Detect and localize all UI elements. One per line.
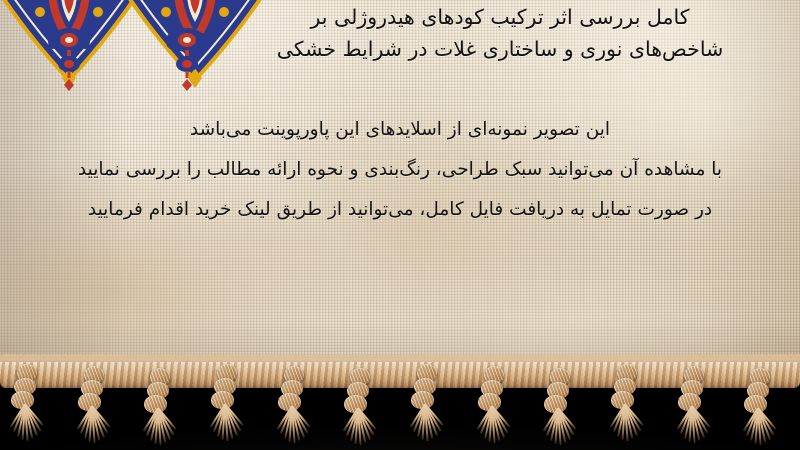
title-line-1: کامل بررسی اثر ترکیب کودهای هیدروژلی بر bbox=[212, 1, 788, 33]
fringe-knot bbox=[675, 364, 715, 450]
fringe-knot bbox=[608, 362, 648, 448]
fringe-tassel bbox=[10, 404, 44, 448]
slide-text-layer: کامل بررسی اثر ترکیب کودهای هیدروژلی بر … bbox=[0, 0, 800, 374]
fringe-tassel bbox=[143, 408, 177, 450]
fringe-knot bbox=[408, 362, 448, 448]
fringe-tassel bbox=[343, 408, 377, 450]
fringe-tassel bbox=[410, 404, 444, 448]
fringe-knot bbox=[341, 366, 381, 450]
fringe-tassel bbox=[610, 404, 644, 448]
body-line-2: با مشاهده آن می‌توانید سبک طراحی، رنگ‌بن… bbox=[0, 150, 800, 190]
fringe-tassel bbox=[677, 406, 711, 450]
fringe-tassel bbox=[743, 408, 777, 450]
title-line-2: شاخص‌های نوری و ساختاری غلات در شرایط خش… bbox=[212, 33, 788, 65]
fringe-tassel bbox=[277, 406, 311, 450]
fringe-knot bbox=[275, 364, 315, 450]
fringe-knot bbox=[141, 366, 181, 450]
slide-title: کامل بررسی اثر ترکیب کودهای هیدروژلی بر … bbox=[212, 1, 788, 65]
fringe-tassel bbox=[477, 406, 511, 450]
fringe-tassel bbox=[210, 404, 244, 448]
fringe-tassel bbox=[543, 408, 577, 450]
fringe-knot bbox=[208, 362, 248, 448]
body-line-3: در صورت تمایل به دریافت فایل کامل، می‌تو… bbox=[0, 190, 800, 230]
body-line-1: این تصویر نمونه‌ای از اسلایدهای این پاور… bbox=[0, 110, 800, 150]
knotted-tassel-fringe bbox=[0, 348, 800, 450]
fringe-knot bbox=[75, 364, 115, 450]
slide-body: این تصویر نمونه‌ای از اسلایدهای این پاور… bbox=[0, 110, 800, 230]
fringe-knot bbox=[741, 366, 781, 450]
fringe-knot bbox=[8, 362, 48, 448]
carpet-slide: کامل بررسی اثر ترکیب کودهای هیدروژلی بر … bbox=[0, 0, 800, 450]
fringe-tassel bbox=[77, 406, 111, 450]
fringe-knot bbox=[475, 364, 515, 450]
fringe-knot bbox=[541, 366, 581, 450]
